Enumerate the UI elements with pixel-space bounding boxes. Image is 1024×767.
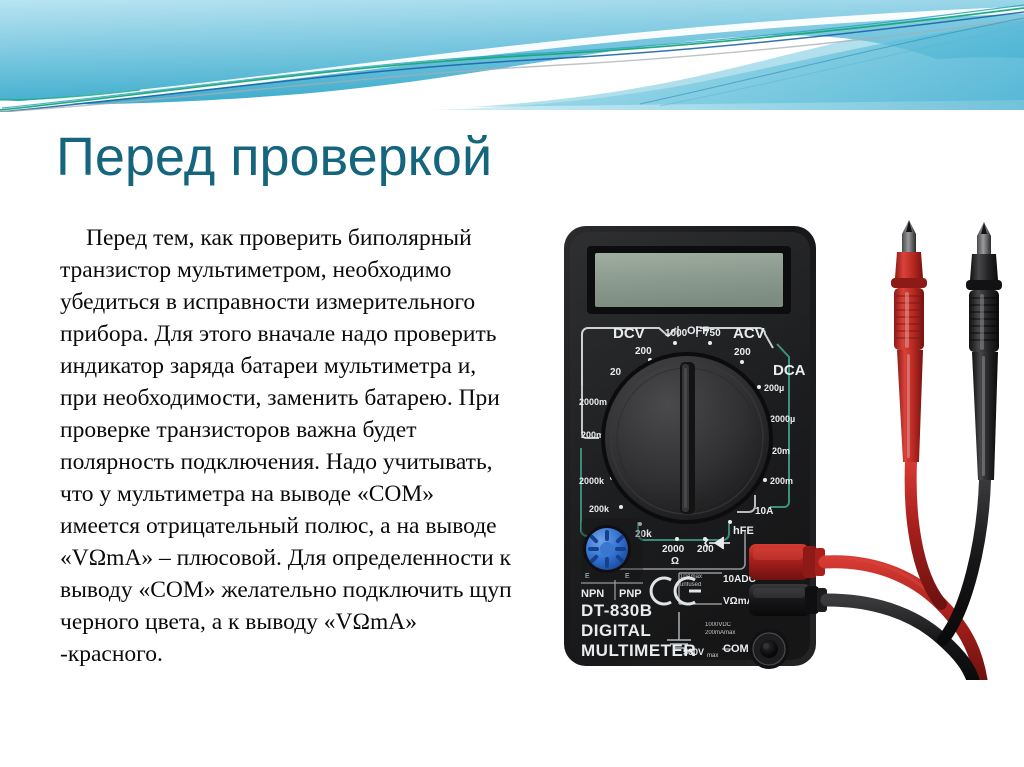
note-500vmax: 500V: [683, 647, 704, 657]
rotary-dial-knob[interactable]: [601, 352, 773, 524]
svg-text:2000µ: 2000µ: [770, 414, 795, 424]
svg-text:2000k: 2000k: [579, 476, 605, 486]
dial-group-label-acv: ACV: [733, 325, 765, 342]
dial-group-label-dca: DCA: [773, 362, 806, 379]
hfe-socket-label-npn: NPN: [581, 588, 604, 600]
svg-text:2000m: 2000m: [579, 397, 607, 407]
svg-text:200m: 200m: [770, 476, 793, 486]
svg-text:Ω: Ω: [671, 556, 679, 567]
svg-text:20: 20: [610, 367, 622, 378]
lcd-screen: [595, 253, 783, 307]
svg-text:max: max: [707, 653, 718, 659]
note-10amax: 10Amax: [680, 574, 702, 580]
svg-text:200: 200: [734, 347, 751, 358]
svg-text:200: 200: [697, 544, 714, 555]
svg-text:200: 200: [635, 346, 652, 357]
body-text-block: Перед тем, как проверить биполярный тран…: [60, 222, 512, 670]
svg-text:200m: 200m: [581, 430, 604, 440]
com-socket[interactable]: [749, 629, 789, 669]
note-1000vdc: 1000VDC: [705, 622, 732, 628]
svg-text:750: 750: [704, 328, 721, 339]
note-200mamax: 200mAmax: [705, 630, 735, 636]
note-unfused: unfused: [680, 582, 701, 588]
page-title: Перед проверкой: [56, 126, 492, 188]
device-line-digital: DIGITAL: [581, 621, 651, 640]
dial-group-label-hfe: hFE: [733, 525, 754, 537]
black-plug: [749, 584, 827, 616]
svg-text:2000: 2000: [662, 544, 685, 555]
svg-text:20m: 20m: [772, 446, 790, 456]
dial-group-label-dcv: DCV: [613, 325, 645, 342]
svg-text:E: E: [585, 573, 590, 580]
svg-text:E: E: [625, 573, 630, 580]
hfe-socket-label-pnp: PNP: [619, 588, 642, 600]
svg-text:1000: 1000: [665, 328, 688, 339]
decorative-wave-banner: [0, 0, 1024, 112]
svg-text:10A: 10A: [755, 506, 773, 517]
svg-text:200µ: 200µ: [764, 383, 784, 393]
multimeter-photo: DCV ACV DCA OFF 1000 200 20 2000m 200m 7…: [537, 212, 1024, 680]
hfe-socket[interactable]: [581, 518, 643, 580]
body-paragraph: Перед тем, как проверить биполярный тран…: [60, 222, 512, 670]
device-model: DT-830B: [581, 601, 653, 620]
red-plug: [749, 544, 825, 580]
svg-text:200k: 200k: [589, 504, 610, 514]
